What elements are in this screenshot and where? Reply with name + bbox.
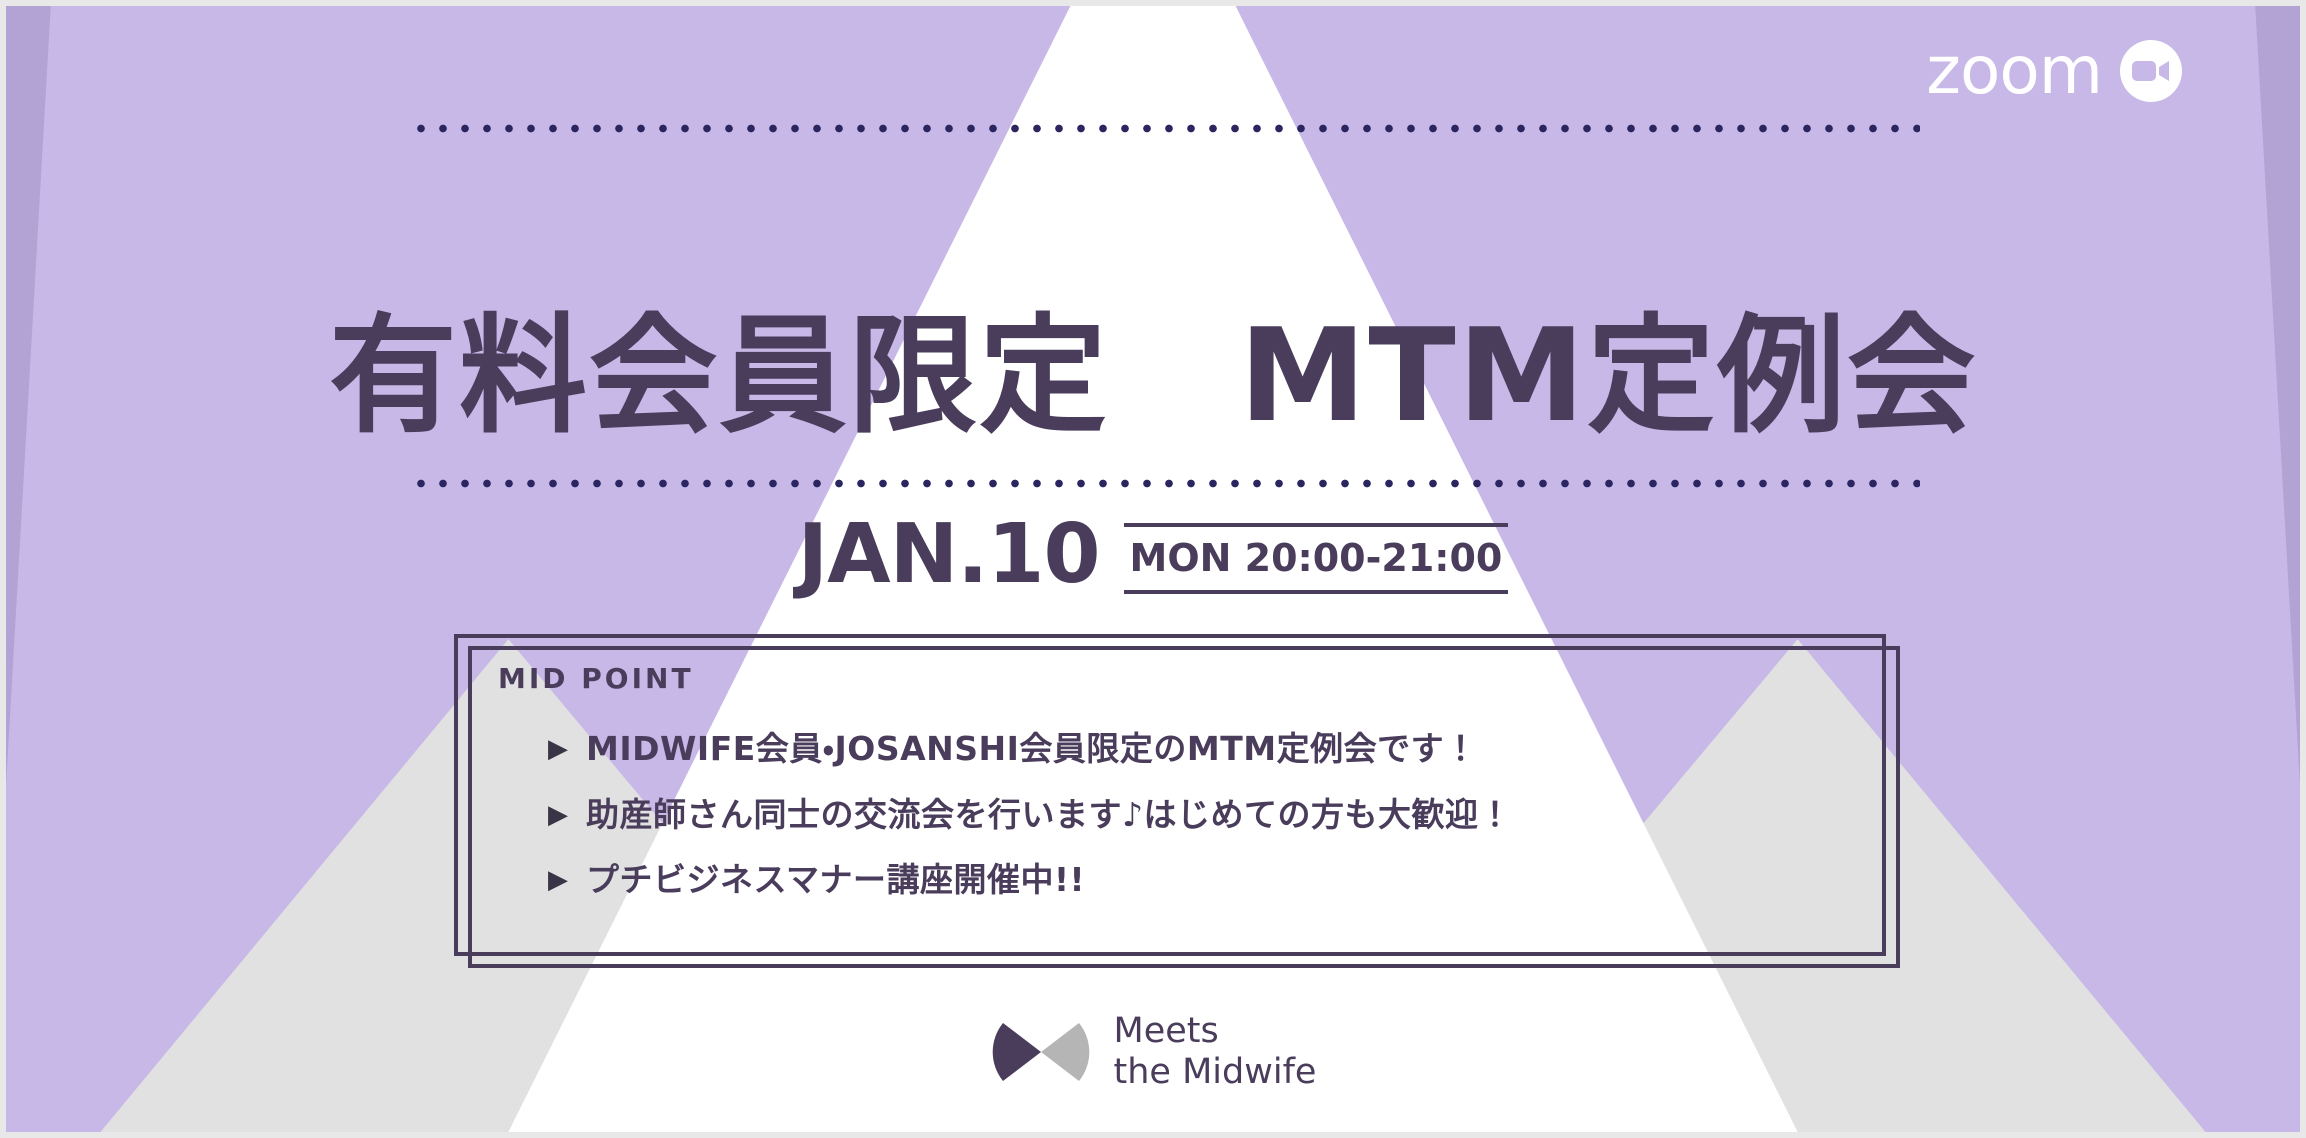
mid-point-label: MID POINT	[498, 662, 1886, 695]
bullet-arrow-icon: ▶	[548, 735, 568, 761]
list-item-label: 助産師さん同士の交流会を行います♪はじめての方も大歓迎！	[586, 795, 1512, 835]
list-item-label: プチビジネスマナー講座開催中!!	[586, 860, 1085, 900]
mid-point-list: ▶ MIDWIFE会員・JOSANSHI会員限定のMTM定例会です！ ▶ 助産師…	[498, 729, 1886, 900]
dotted-rule-bottom	[410, 479, 1920, 488]
page-title: 有料会員限定 MTM定例会	[6, 297, 2300, 457]
event-poster: zoom 有料会員限定 MTM定例会 JAN.10 MON 20:00-21:0…	[0, 0, 2306, 1138]
mid-point-box: MID POINT ▶ MIDWIFE会員・JOSANSHI会員限定のMTM定例…	[454, 634, 1886, 956]
bowtie-logo-icon	[990, 1016, 1092, 1088]
video-camera-icon	[2120, 40, 2182, 102]
list-item-label: MIDWIFE会員・JOSANSHI会員限定のMTM定例会です！	[586, 729, 1478, 769]
list-item: ▶ MIDWIFE会員・JOSANSHI会員限定のMTM定例会です！	[498, 729, 1886, 769]
brand-name-line2: the Midwife	[1114, 1052, 1317, 1093]
zoom-wordmark: zoom	[1926, 38, 2102, 104]
brand-logo: Meets the Midwife	[6, 1011, 2300, 1094]
bullet-arrow-icon: ▶	[548, 801, 568, 827]
list-item: ▶ 助産師さん同士の交流会を行います♪はじめての方も大歓迎！	[498, 795, 1886, 835]
bullet-arrow-icon: ▶	[548, 866, 568, 892]
zoom-logo: zoom	[1926, 38, 2182, 104]
event-date: JAN.10	[798, 514, 1100, 596]
brand-name: Meets the Midwife	[1114, 1011, 1317, 1094]
event-date-row: JAN.10 MON 20:00-21:00	[6, 514, 2300, 596]
dotted-rule-top	[410, 124, 1920, 133]
brand-name-line1: Meets	[1114, 1011, 1317, 1052]
list-item: ▶ プチビジネスマナー講座開催中!!	[498, 860, 1886, 900]
event-time: MON 20:00-21:00	[1124, 523, 1509, 594]
